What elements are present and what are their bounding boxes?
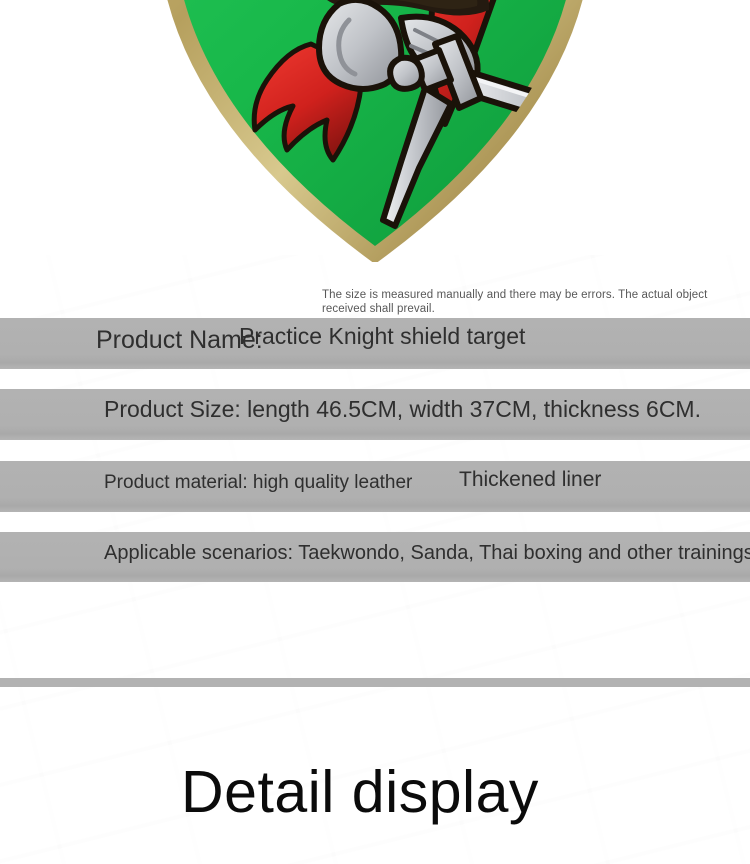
applicable-scenarios-label: Applicable scenarios: Taekwondo, Sanda, … [104,542,750,565]
product-size-label: Product Size: length 46.5CM, width 37CM,… [104,396,701,423]
size-disclaimer-text: The size is measured manually and there … [322,288,738,316]
info-bar-applicable-scenarios: Applicable scenarios: Taekwondo, Sanda, … [0,532,750,582]
info-bar-product-size: Product Size: length 46.5CM, width 37CM,… [0,389,750,440]
product-detail-page: The size is measured manually and there … [0,0,750,864]
info-bar-product-name: Product Name: Practice Knight shield tar… [0,318,750,369]
product-name-value: Practice Knight shield target [239,323,525,350]
product-photo [0,0,750,262]
sword-pommel [390,58,422,89]
product-material-label: Product material: high quality leather [104,472,412,494]
knight-shield-illustration [139,0,611,262]
knight-shield-image [139,0,611,262]
info-bar-product-material: Product material: high quality leather T… [0,461,750,512]
product-name-label: Product Name: [96,326,263,355]
product-liner-value: Thickened liner [459,468,601,492]
section-divider [0,678,750,687]
detail-display-heading: Detail display [0,757,720,827]
